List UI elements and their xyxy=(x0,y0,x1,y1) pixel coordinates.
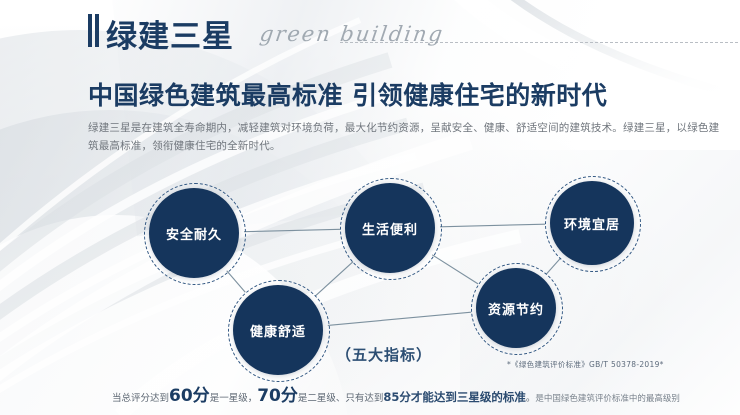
score-prefix: 当总评分达到 xyxy=(112,393,169,404)
diagram-node-label: 健康舒适 xyxy=(250,321,306,340)
diagram-edge xyxy=(546,258,561,274)
diagram-edge xyxy=(440,224,545,227)
diagram-edge xyxy=(328,312,471,325)
diagram-edge xyxy=(315,262,353,297)
diagram-edge xyxy=(432,255,478,284)
diagram-node-comfort[interactable]: 健康舒适 xyxy=(233,285,323,375)
diagram-node-convenience[interactable]: 生活便利 xyxy=(345,183,435,273)
brand-title: 绿建三星 xyxy=(106,11,234,56)
score-level1-text: 是一星级， xyxy=(210,393,258,404)
score-level2-value: 70分 xyxy=(257,386,298,406)
score-level2-text: 是二星级、只有达到 xyxy=(298,393,384,404)
standard-footnote: *《绿色建筑评价标准》GB/T 50378-2019* xyxy=(507,359,664,370)
diagram-node-environment[interactable]: 环境宜居 xyxy=(550,181,634,265)
indicator-count-label: （五大指标） xyxy=(336,344,432,365)
diagram-node-label: 资源节约 xyxy=(488,299,544,318)
diagram-node-resource[interactable]: 资源节约 xyxy=(476,268,556,348)
five-indicator-diagram: 安全耐久生活便利环境宜居健康舒适资源节约 （五大指标） *《绿色建筑评价标准》G… xyxy=(0,0,740,415)
diagram-node-safety[interactable]: 安全耐久 xyxy=(149,188,239,278)
score-level3-value: 85分才能达到三星级的标准 xyxy=(383,390,526,404)
score-tail-text: 是中国绿色建筑评价标准中的最高级别 xyxy=(535,394,680,404)
diagram-edge xyxy=(244,229,340,231)
score-punct: 。 xyxy=(526,393,536,404)
slide-canvas: 绿建三星 green building 中国绿色建筑最高标准 引领健康住宅的新时… xyxy=(0,0,740,415)
diagram-node-label: 安全耐久 xyxy=(166,224,222,243)
diagram-node-label: 环境宜居 xyxy=(564,214,620,233)
scoring-summary: 当总评分达到60分是一星级，70分是二星级、只有达到85分才能达到三星级的标准。… xyxy=(112,381,680,406)
score-level1-value: 60分 xyxy=(169,386,210,406)
diagram-node-label: 生活便利 xyxy=(362,219,418,238)
diagram-edge xyxy=(227,271,246,292)
brand-script-text: green building xyxy=(258,22,445,46)
